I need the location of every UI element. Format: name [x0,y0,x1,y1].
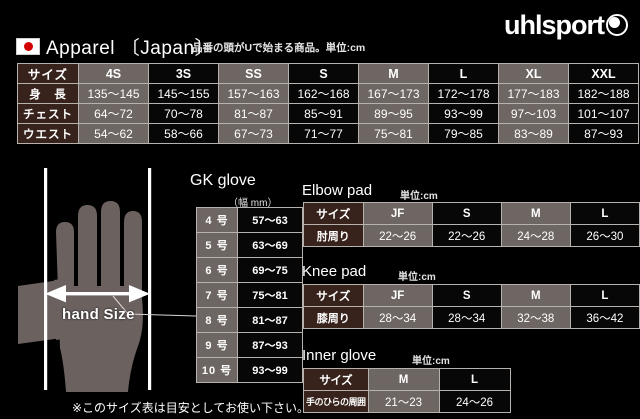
gk-glove-table-body: 4 号 57〜63 5 号 63〜69 6 号 69〜75 7 号 75〜81 … [197,208,303,383]
table-cell: 24〜28 [501,225,570,247]
gk-size-cell: 5 号 [197,233,238,258]
logo-wordmark: uhlsport [504,12,604,39]
inner-glove-unit: 単位:cm [412,352,450,367]
apparel-size-table: サイズ 4S 3S SS S M L XL XXL 身 長 135〜145 14… [17,63,639,144]
knee-pad-title: Knee pad [302,263,366,280]
row-label: チェスト [18,104,79,124]
table-cell: 145〜155 [149,84,219,104]
table-cell: 87〜93 [569,124,639,144]
elbow-header-cell: M [501,203,570,225]
table-cell: 32〜38 [501,307,570,329]
table-cell: 162〜168 [289,84,359,104]
page-subtitle: 品番の頭がUで始まる商品。単位:cm [192,40,365,55]
table-row: 手のひらの周囲 21〜23 24〜26 [304,391,511,413]
apparel-header-cell: SS [219,64,289,84]
inner-glove-title: Inner glove [302,347,376,364]
gk-size-cell: 8 号 [197,308,238,333]
hand-size-label: hand Size [62,306,135,323]
row-label: ウエスト [18,124,79,144]
gk-range-cell: 69〜75 [238,258,303,283]
knee-header-cell: サイズ [304,285,364,307]
apparel-header-cell: XL [499,64,569,84]
table-row: 身 長 135〜145 145〜155 157〜163 162〜168 167〜… [18,84,639,104]
table-cell: 101〜107 [569,104,639,124]
table-cell: 79〜85 [429,124,499,144]
table-row: 9 号 87〜93 [197,333,303,358]
measure-line-left [44,168,47,390]
gk-size-cell: 7 号 [197,283,238,308]
elbow-pad-unit: 単位:cm [400,187,438,202]
table-cell: 22〜26 [432,225,501,247]
table-cell: 75〜81 [359,124,429,144]
apparel-header-cell: サイズ [18,64,79,84]
knee-pad-table: サイズ JF S M L 膝周り 28〜34 28〜34 32〜38 36〜42 [303,284,640,329]
table-header-row: サイズ JF S M L [304,203,640,225]
elbow-header-cell: サイズ [304,203,364,225]
apparel-table-header-row: サイズ 4S 3S SS S M L XL XXL [18,64,639,84]
footer-note: ※このサイズ表は目安としてお使い下さい。 [72,399,309,416]
knee-header-cell: JF [363,285,432,307]
gk-glove-title: GK glove [190,172,256,190]
elbow-header-cell: L [570,203,639,225]
uhlsport-logo: uhlsport [504,10,628,40]
apparel-header-cell: 3S [149,64,219,84]
inner-header-cell: M [368,369,439,391]
row-label: 肘周り [304,225,364,247]
page-header: Apparel 〔Japan〕 品番の頭がUで始まる商品。単位:cm uhlsp… [0,0,640,60]
table-cell: 54〜62 [79,124,149,144]
table-row: 5 号 63〜69 [197,233,303,258]
apparel-header-cell: L [429,64,499,84]
apparel-header-cell: 4S [79,64,149,84]
gk-range-cell: 63〜69 [238,233,303,258]
table-cell: 71〜77 [289,124,359,144]
table-cell: 157〜163 [219,84,289,104]
table-row: 4 号 57〜63 [197,208,303,233]
table-cell: 167〜173 [359,84,429,104]
elbow-pad-table: サイズ JF S M L 肘周り 22〜26 22〜26 24〜28 26〜30 [303,202,640,247]
gk-size-cell: 10 号 [197,358,238,383]
hand-outline-icon [18,168,198,398]
inner-header-cell: サイズ [304,369,369,391]
table-cell: 97〜103 [499,104,569,124]
japan-flag-icon [16,38,40,55]
table-cell: 36〜42 [570,307,639,329]
measure-line-right [148,168,151,390]
table-cell: 81〜87 [219,104,289,124]
table-row: ウエスト 54〜62 58〜66 67〜73 71〜77 75〜81 79〜85… [18,124,639,144]
gk-range-cell: 93〜99 [238,358,303,383]
apparel-header-cell: S [289,64,359,84]
apparel-header-cell: XXL [569,64,639,84]
hand-measurement-diagram: hand Size [18,168,198,398]
table-cell: 177〜183 [499,84,569,104]
elbow-pad-table-body: サイズ JF S M L 肘周り 22〜26 22〜26 24〜28 26〜30 [304,203,640,247]
table-cell: 21〜23 [368,391,439,413]
gk-range-cell: 87〜93 [238,333,303,358]
apparel-header-cell: M [359,64,429,84]
table-cell: 28〜34 [432,307,501,329]
inner-header-cell: L [439,369,510,391]
table-cell: 182〜188 [569,84,639,104]
table-cell: 93〜99 [429,104,499,124]
table-header-row: サイズ M L [304,369,511,391]
table-cell: 64〜72 [79,104,149,124]
table-cell: 83〜89 [499,124,569,144]
table-row: 7 号 75〜81 [197,283,303,308]
knee-header-cell: L [570,285,639,307]
gk-range-cell: 81〜87 [238,308,303,333]
gk-range-cell: 75〜81 [238,283,303,308]
table-cell: 28〜34 [363,307,432,329]
table-row: 膝周り 28〜34 28〜34 32〜38 36〜42 [304,307,640,329]
knee-pad-unit: 単位:cm [398,268,436,283]
table-row: 肘周り 22〜26 22〜26 24〜28 26〜30 [304,225,640,247]
table-row: チェスト 64〜72 70〜78 81〜87 85〜91 89〜95 93〜99… [18,104,639,124]
table-cell: 22〜26 [363,225,432,247]
elbow-header-cell: S [432,203,501,225]
row-label: 身 長 [18,84,79,104]
knee-pad-table-body: サイズ JF S M L 膝周り 28〜34 28〜34 32〜38 36〜42 [304,285,640,329]
elbow-pad-title: Elbow pad [302,182,372,199]
flag-red-disc [24,42,33,51]
table-cell: 26〜30 [570,225,639,247]
gk-size-cell: 6 号 [197,258,238,283]
knee-header-cell: S [432,285,501,307]
table-row: 8 号 81〜87 [197,308,303,333]
row-label: 手のひらの周囲 [304,391,369,413]
inner-glove-table: サイズ M L 手のひらの周囲 21〜23 24〜26 [303,368,511,413]
table-header-row: サイズ JF S M L [304,285,640,307]
table-cell: 85〜91 [289,104,359,124]
gk-size-cell: 4 号 [197,208,238,233]
gk-range-cell: 57〜63 [238,208,303,233]
inner-glove-table-body: サイズ M L 手のひらの周囲 21〜23 24〜26 [304,369,511,413]
gk-glove-table: 4 号 57〜63 5 号 63〜69 6 号 69〜75 7 号 75〜81 … [196,207,303,383]
table-cell: 67〜73 [219,124,289,144]
knee-header-cell: M [501,285,570,307]
uhlsport-ball-icon [606,14,628,36]
table-cell: 135〜145 [79,84,149,104]
page-title: Apparel 〔Japan〕 [46,33,214,60]
table-cell: 70〜78 [149,104,219,124]
gk-size-cell: 9 号 [197,333,238,358]
table-cell: 24〜26 [439,391,510,413]
elbow-header-cell: JF [363,203,432,225]
apparel-table-body: サイズ 4S 3S SS S M L XL XXL 身 長 135〜145 14… [18,64,639,144]
row-label: 膝周り [304,307,364,329]
table-cell: 89〜95 [359,104,429,124]
size-chart-page: Apparel 〔Japan〕 品番の頭がUで始まる商品。単位:cm uhlsp… [0,0,640,419]
table-row: 6 号 69〜75 [197,258,303,283]
table-cell: 58〜66 [149,124,219,144]
table-row: 10 号 93〜99 [197,358,303,383]
table-cell: 172〜178 [429,84,499,104]
